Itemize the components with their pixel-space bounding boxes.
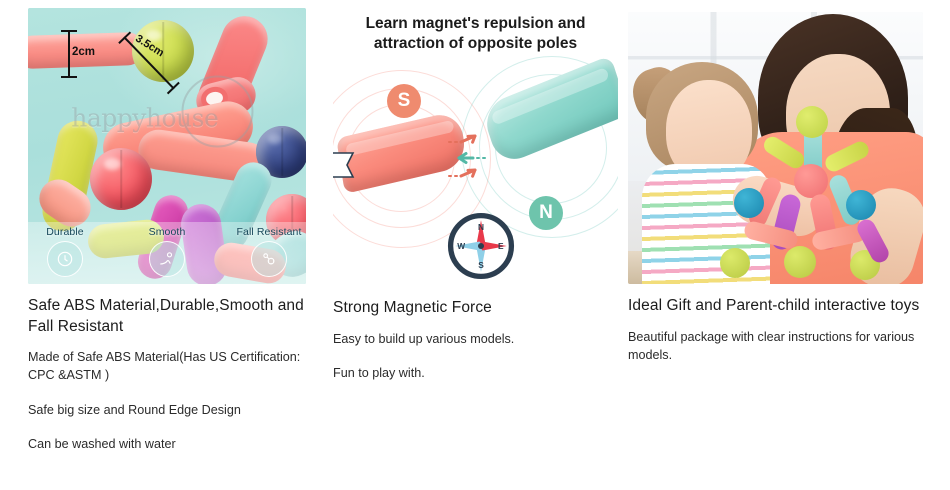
feature-paragraph: Safe big size and Round Edge Design [28, 401, 306, 419]
toy-parts-photo: 2cm 3.5cm happyhouse Durable [28, 8, 306, 284]
feature-badge-strip: Durable Smooth [28, 222, 306, 284]
feature-badge-durable: Durable [28, 226, 102, 284]
feature-paragraph: Fun to play with. [333, 364, 618, 382]
feature-column-ideal-gift: Ideal Gift and Parent-child interactive … [628, 0, 923, 490]
force-arrows-icon [445, 128, 507, 190]
feature-paragraph: Can be washed with water [28, 435, 306, 453]
ribbon-tag-icon [333, 150, 361, 180]
badge-label: Durable [28, 226, 102, 238]
badge-label: Smooth [130, 226, 204, 238]
badge-label: Fall Resistant [232, 226, 306, 238]
feature-paragraph: Made of Safe ABS Material(Has US Certifi… [28, 348, 306, 385]
svg-text:N: N [478, 222, 484, 232]
diagram-title: Learn magnet's repulsion and attraction … [333, 14, 618, 55]
feature-heading: Ideal Gift and Parent-child interactive … [628, 296, 923, 317]
dimension-label-stick: 2cm [72, 46, 95, 58]
shield-clock-icon [47, 241, 83, 277]
feature-text-block: Safe ABS Material,Durable,Smooth and Fal… [28, 284, 306, 453]
feature-column-magnetic-force: Learn magnet's repulsion and attraction … [333, 0, 618, 490]
magnet-diagram: Learn magnet's repulsion and attraction … [333, 0, 618, 286]
pole-badge-south: S [387, 84, 421, 118]
feature-badge-fall-resistant: Fall Resistant [232, 226, 306, 284]
feature-heading: Strong Magnetic Force [333, 298, 618, 319]
svg-text:S: S [478, 260, 484, 270]
toy-ball-red [90, 148, 152, 210]
feature-paragraph: Easy to build up various models. [333, 330, 618, 348]
parent-child-photo [628, 12, 923, 284]
feature-text-block: Strong Magnetic Force Easy to build up v… [333, 286, 618, 382]
pole-badge-north: N [529, 196, 563, 230]
feature-heading: Safe ABS Material,Durable,Smooth and Fal… [28, 296, 306, 337]
dimension-line-vertical [68, 30, 70, 78]
smooth-slide-icon [149, 241, 185, 277]
svg-text:E: E [498, 241, 504, 251]
feature-column-safe-material: 2cm 3.5cm happyhouse Durable [28, 0, 306, 490]
drop-test-icon [251, 241, 287, 277]
feature-text-block: Ideal Gift and Parent-child interactive … [628, 284, 923, 364]
feature-badge-smooth: Smooth [130, 226, 204, 284]
feature-paragraph: Beautiful package with clear instruction… [628, 328, 923, 365]
compass-icon: N S E W [443, 208, 519, 284]
product-feature-banner: 2cm 3.5cm happyhouse Durable [0, 0, 950, 490]
svg-text:W: W [457, 241, 465, 251]
